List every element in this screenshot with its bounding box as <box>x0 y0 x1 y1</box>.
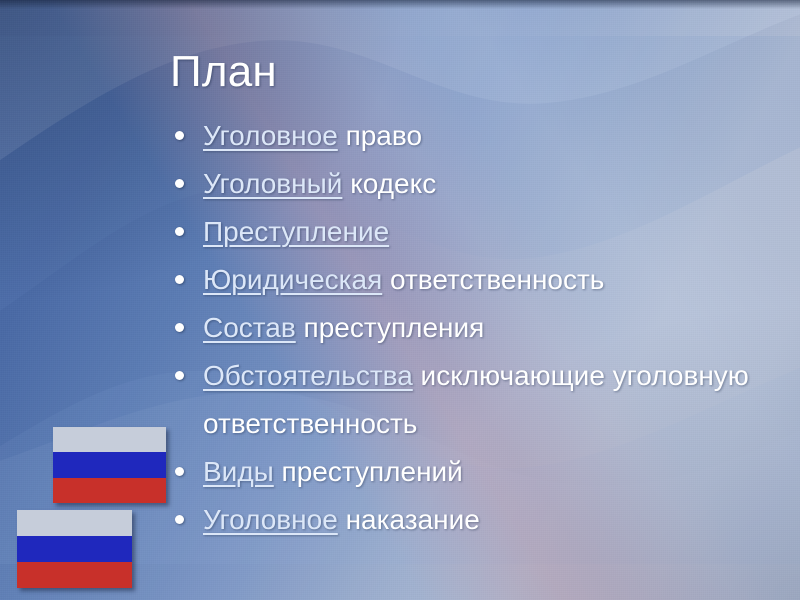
bullet-item: Юридическая ответственность <box>172 256 772 304</box>
bullet-item: Преступление <box>172 208 772 256</box>
bullet-text: Юридическая ответственность <box>203 264 604 295</box>
slide-content: План Уголовное правоУголовный кодексПрес… <box>0 0 800 600</box>
bullet-dot-icon <box>175 131 184 140</box>
bullet-list: Уголовное правоУголовный кодексПреступле… <box>172 112 772 544</box>
bullet-dot-icon <box>175 275 184 284</box>
bullet-hyperlink[interactable]: Уголовное <box>203 504 338 535</box>
bullet-item: Уголовный кодекс <box>172 160 772 208</box>
bullet-dot-icon <box>175 227 184 236</box>
bullet-dot-icon <box>175 371 184 380</box>
bullet-dot-icon <box>175 323 184 332</box>
bullet-plain-text: кодекс <box>342 168 436 199</box>
slide-title: План <box>170 46 277 98</box>
bullet-hyperlink[interactable]: Уголовное <box>203 120 338 151</box>
bullet-hyperlink[interactable]: Виды <box>203 456 274 487</box>
bullet-hyperlink[interactable]: Юридическая <box>203 264 382 295</box>
bullet-text: Преступление <box>203 216 389 247</box>
bullet-dot-icon <box>175 179 184 188</box>
bullet-plain-text: ответственность <box>382 264 604 295</box>
bullet-plain-text: право <box>338 120 422 151</box>
bullet-plain-text: преступления <box>296 312 485 343</box>
bullet-hyperlink[interactable]: Уголовный <box>203 168 342 199</box>
bullet-plain-text: преступлений <box>274 456 463 487</box>
bullet-text: Виды преступлений <box>203 456 463 487</box>
bullet-dot-icon <box>175 467 184 476</box>
bullet-item: Состав преступления <box>172 304 772 352</box>
bullet-item: Обстоятельства исключающие уголовную отв… <box>172 352 772 448</box>
bullet-item: Уголовное право <box>172 112 772 160</box>
bullet-item: Виды преступлений <box>172 448 772 496</box>
bullet-text: Обстоятельства исключающие уголовную отв… <box>203 360 749 439</box>
bullet-dot-icon <box>175 515 184 524</box>
bullet-text: Уголовный кодекс <box>203 168 436 199</box>
bullet-plain-text: наказание <box>338 504 480 535</box>
bullet-text: Уголовное право <box>203 120 422 151</box>
bullet-hyperlink[interactable]: Преступление <box>203 216 389 247</box>
bullet-hyperlink[interactable]: Состав <box>203 312 296 343</box>
bullet-text: Уголовное наказание <box>203 504 480 535</box>
bullet-text: Состав преступления <box>203 312 484 343</box>
bullet-hyperlink[interactable]: Обстоятельства <box>203 360 413 391</box>
presentation-slide: План Уголовное правоУголовный кодексПрес… <box>0 0 800 600</box>
bullet-item: Уголовное наказание <box>172 496 772 544</box>
